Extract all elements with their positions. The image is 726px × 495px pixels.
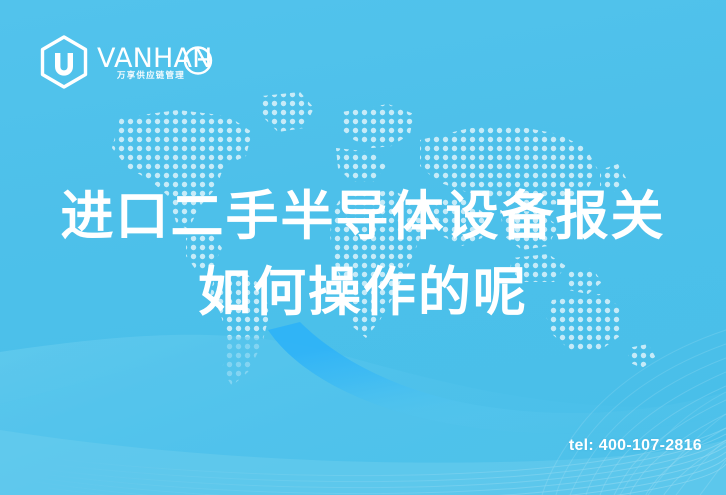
headline-line-2: 如何操作的呢: [0, 258, 726, 328]
vanhang-wordmark: VANHAN 万享供应链管理: [97, 41, 215, 83]
wordmark-subtitle-text: 万享供应链管理: [116, 70, 185, 81]
headline-line-1: 进口二手半导体设备报关: [0, 182, 726, 252]
vanhang-hexagon-icon: [38, 34, 90, 90]
promotional-banner: VANHAN 万享供应链管理 进口二手半导体设备报关 如何操作的呢 tel: 4…: [0, 0, 726, 495]
brand-logo[interactable]: VANHAN 万享供应链管理: [38, 34, 215, 90]
headline-block: 进口二手半导体设备报关 如何操作的呢: [0, 182, 726, 328]
contact-phone-label: tel: 400-107-2816: [569, 437, 702, 455]
